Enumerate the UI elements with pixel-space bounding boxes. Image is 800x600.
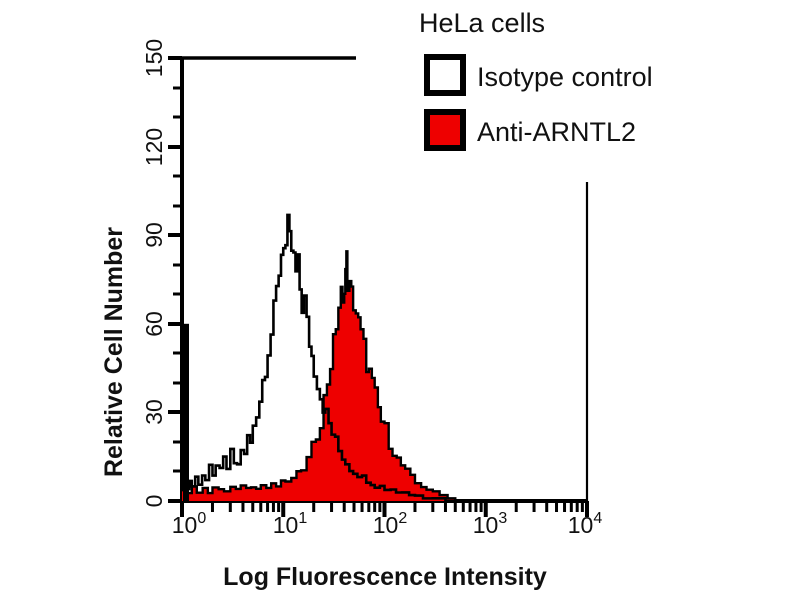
legend-swatch-isotype-control [427, 57, 463, 93]
legend-swatch-anti-arntl2 [427, 112, 463, 148]
y-tick-label-30: 30 [141, 399, 167, 425]
y-tick-label-60: 60 [141, 311, 167, 337]
legend-title: HeLa cells [419, 8, 545, 38]
legend-item-anti-arntl2[interactable]: Anti-ARNTL2 [427, 112, 636, 148]
off-scale-spike [183, 324, 189, 501]
legend-label-isotype-control: Isotype control [477, 62, 653, 92]
y-tick-label-90: 90 [141, 222, 167, 248]
histogram-plot-svg: Relative Cell Number Log Fluorescence In… [0, 0, 800, 600]
y-tick-label-0: 0 [141, 495, 167, 508]
y-axis-title: Relative Cell Number [100, 227, 128, 477]
x-axis-title: Log Fluorescence Intensity [223, 563, 547, 591]
y-tick-label-150: 150 [141, 39, 167, 77]
legend-item-isotype-control[interactable]: Isotype control [427, 57, 653, 93]
flow-cytometry-histogram-figure: Relative Cell Number Log Fluorescence In… [0, 0, 800, 600]
legend-label-anti-arntl2: Anti-ARNTL2 [477, 117, 636, 147]
y-tick-label-120: 120 [141, 128, 167, 166]
